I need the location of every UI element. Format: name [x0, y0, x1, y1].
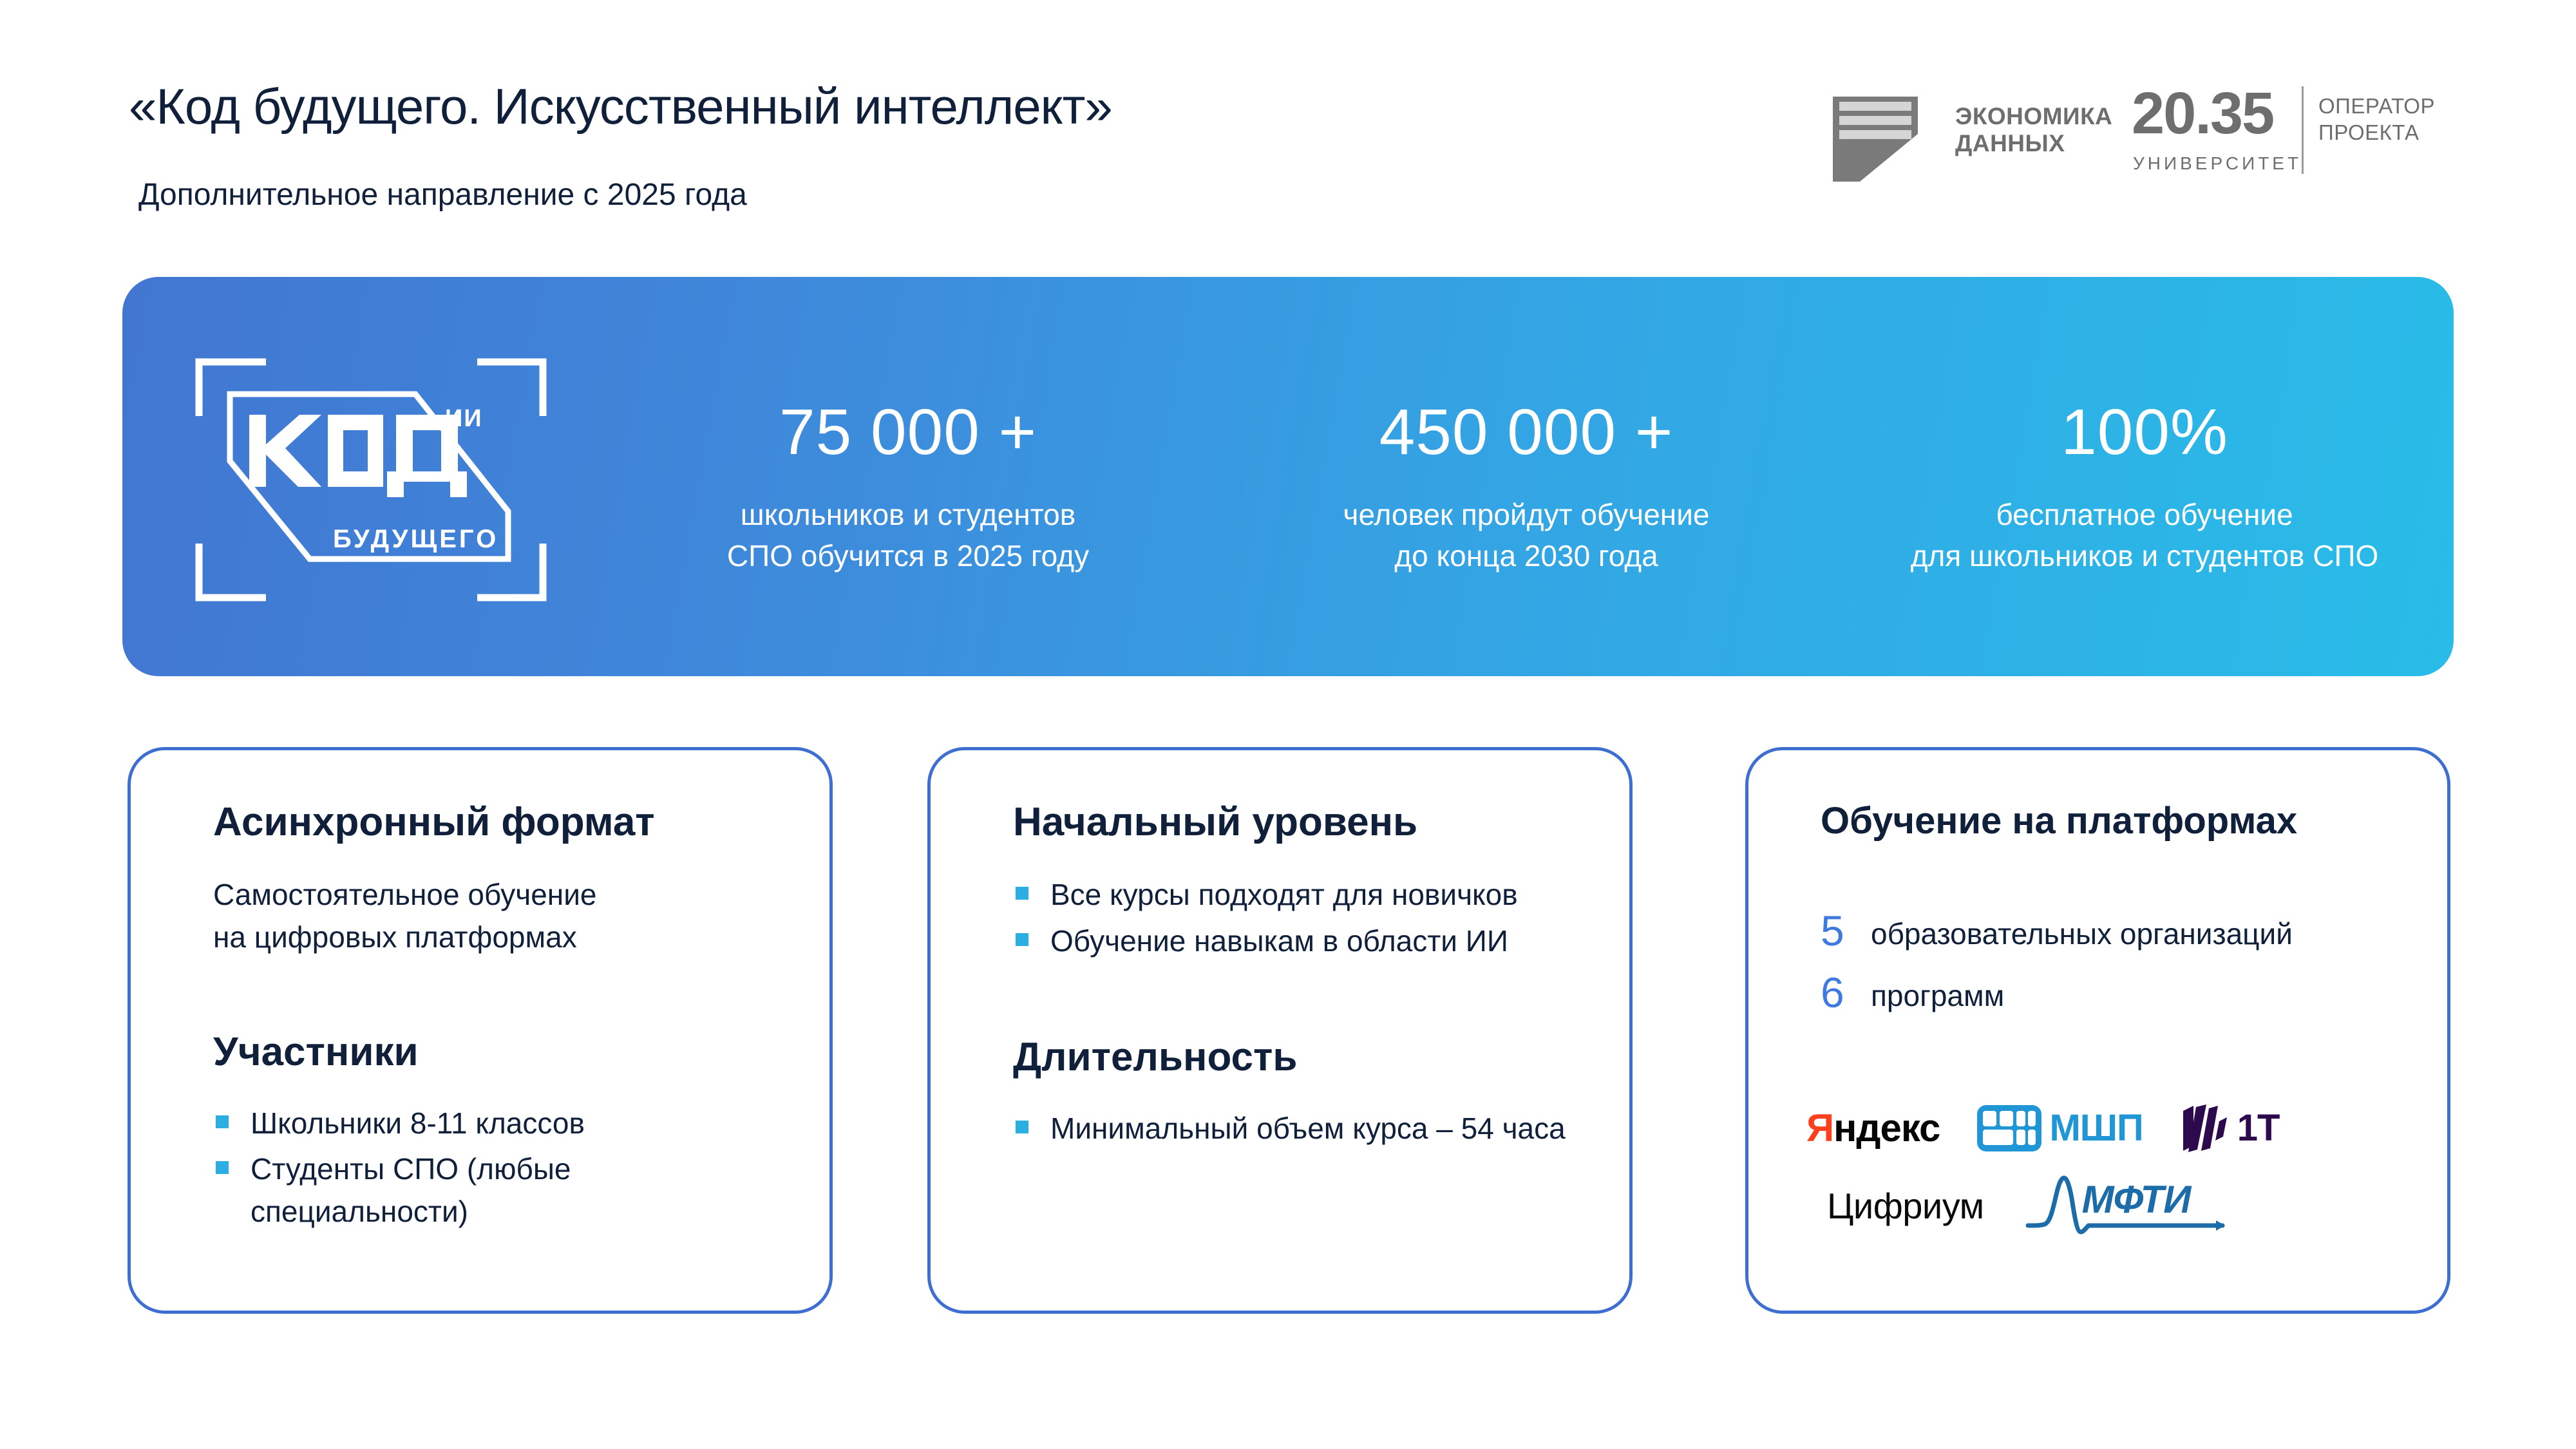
- card-beginner-level: Начальный уровень Все курсы подходят для…: [927, 747, 1633, 1314]
- card2-heading: Начальный уровень: [1013, 800, 1584, 844]
- card2-heading-2: Длительность: [1013, 1036, 1584, 1079]
- square-bullet-icon: [1016, 887, 1028, 900]
- card-asynchronous-format: Асинхронный формат Самостоятельное обуче…: [128, 747, 833, 1314]
- operator-role-label: ОПЕРАТОР ПРОЕКТА: [2318, 93, 2435, 146]
- square-bullet-icon: [1016, 933, 1028, 946]
- logo-divider: [2302, 86, 2304, 174]
- count-label: образовательных организаций: [1871, 909, 2293, 954]
- 1t-mark-icon: [2181, 1103, 2228, 1153]
- stats-banner: БУДУЩЕГО ИИ 75 000 + школьников и студен…: [122, 277, 2454, 676]
- kod-budushchego-logo-icon: БУДУЩЕГО ИИ: [190, 354, 551, 605]
- operator-line-2: ПРОЕКТА: [2318, 119, 2435, 146]
- mipt-logo: МФТИ: [2025, 1175, 2225, 1237]
- card1-paragraph-line-1: Самостоятельное обучение: [213, 874, 784, 916]
- count-item-programs: 6 программ: [1821, 971, 2421, 1016]
- card2-bullet-list: Все курсы подходят для новичков Обучение…: [1013, 874, 1584, 962]
- list-item: Все курсы подходят для новичков: [1013, 874, 1584, 916]
- partner-logos: Яндекс МШП: [1787, 1103, 2431, 1290]
- national-projects-mark-icon: [1829, 94, 1945, 184]
- square-bullet-icon: [216, 1161, 229, 1174]
- count-number: 6: [1821, 971, 1871, 1015]
- slide-header: «Код будущего. Искусственный интеллект» …: [0, 0, 2576, 258]
- card1-heading: Асинхронный формат: [213, 800, 784, 844]
- list-item-label: Обучение навыкам в области ИИ: [1050, 924, 1508, 958]
- stat-item-2: 450 000 + человек пройдут обучение до ко…: [1217, 277, 1835, 676]
- yandex-logo-text: ндекс: [1833, 1106, 1940, 1150]
- card2-bullet-list-2: Минимальный объем курса – 54 часа: [1013, 1108, 1584, 1150]
- stat-desc-line-2: СПО обучится в 2025 году: [727, 535, 1089, 576]
- stat-desc-line-2: до конца 2030 года: [1343, 535, 1710, 576]
- stat-item-1: 75 000 + школьников и студентов СПО обуч…: [599, 277, 1217, 676]
- operator-line-1: ОПЕРАТОР: [2318, 93, 2435, 119]
- stat-value: 450 000 +: [1379, 400, 1674, 464]
- svg-text:БУДУЩЕГО: БУДУЩЕГО: [333, 525, 498, 553]
- mshp-logo-text: МШП: [2049, 1110, 2143, 1147]
- stat-description: человек пройдут обучение до конца 2030 г…: [1343, 494, 1710, 577]
- list-item: Школьники 8-11 классов: [213, 1103, 784, 1144]
- university-2035-logo: 20.35 УНИВЕРСИТЕТ ОПЕРАТОР ПРОЕКТА: [2132, 84, 2402, 193]
- stat-desc-line-1: человек пройдут обучение: [1343, 494, 1710, 535]
- card3-heading: Обучение на платформах: [1821, 800, 2421, 842]
- count-label: программ: [1871, 971, 2004, 1016]
- list-item-label: Минимальный объем курса – 54 часа: [1050, 1112, 1566, 1145]
- national-projects-label: ЭКОНОМИКА ДАННЫХ: [1955, 103, 2112, 157]
- 1t-logo-text: 1Т: [2237, 1110, 2280, 1147]
- info-cards-row: Асинхронный формат Самостоятельное обуче…: [0, 747, 2576, 1327]
- list-item-label: Студенты СПО (любые специальности): [251, 1152, 571, 1227]
- page-title: «Код будущего. Искусственный интеллект»: [129, 77, 1112, 136]
- mshp-grid-icon: [1977, 1105, 2041, 1151]
- university-number: 20.35: [2132, 84, 2273, 143]
- stat-item-3: 100% бесплатное обучение для школьников …: [1835, 277, 2454, 676]
- stat-value: 75 000 +: [779, 400, 1037, 464]
- stat-value: 100%: [2061, 400, 2228, 464]
- slide-root: «Код будущего. Искусственный интеллект» …: [0, 0, 2576, 1449]
- 1t-logo: 1Т: [2181, 1103, 2280, 1153]
- card1-bullet-list: Школьники 8-11 классов Студенты СПО (люб…: [213, 1103, 784, 1233]
- list-item-label: Все курсы подходят для новичков: [1050, 878, 1518, 911]
- national-projects-logo: ЭКОНОМИКА ДАННЫХ: [1829, 90, 2099, 187]
- cifrium-logo: Цифриум: [1827, 1188, 1984, 1224]
- card-platforms: Обучение на платформах 5 образовательных…: [1745, 747, 2450, 1314]
- list-item-label: Школьники 8-11 классов: [251, 1106, 585, 1140]
- mshp-logo: МШП: [1977, 1105, 2143, 1151]
- list-item: Минимальный объем курса – 54 часа: [1013, 1108, 1584, 1150]
- card1-paragraph-line-2: на цифровых платформах: [213, 916, 784, 958]
- stats-row: 75 000 + школьников и студентов СПО обуч…: [599, 277, 2454, 676]
- count-item-organizations: 5 образовательных организаций: [1821, 909, 2421, 954]
- card1-paragraph: Самостоятельное обучение на цифровых пла…: [213, 874, 784, 958]
- stat-desc-line-2: для школьников и студентов СПО: [1911, 535, 2379, 576]
- stat-desc-line-1: школьников и студентов: [727, 494, 1089, 535]
- count-number: 5: [1821, 909, 1871, 953]
- yandex-logo: Яндекс: [1806, 1109, 1940, 1148]
- yandex-logo-mark: Я: [1806, 1106, 1833, 1150]
- list-item: Студенты СПО (любые специальности): [213, 1148, 784, 1233]
- list-item: Обучение навыкам в области ИИ: [1013, 920, 1584, 962]
- page-subtitle: Дополнительное направление с 2025 года: [138, 177, 747, 213]
- square-bullet-icon: [216, 1115, 229, 1128]
- card1-heading-2: Участники: [213, 1030, 784, 1074]
- university-word: УНИВЕРСИТЕТ: [2133, 153, 2302, 174]
- stat-description: школьников и студентов СПО обучится в 20…: [727, 494, 1089, 577]
- np-line-1: ЭКОНОМИКА: [1955, 103, 2112, 130]
- stat-desc-line-1: бесплатное обучение: [1911, 494, 2379, 535]
- svg-text:ИИ: ИИ: [445, 405, 483, 432]
- square-bullet-icon: [1016, 1121, 1028, 1133]
- stat-description: бесплатное обучение для школьников и сту…: [1911, 494, 2379, 577]
- np-line-2: ДАННЫХ: [1955, 130, 2112, 157]
- mipt-logo-text: МФТИ: [2082, 1180, 2191, 1219]
